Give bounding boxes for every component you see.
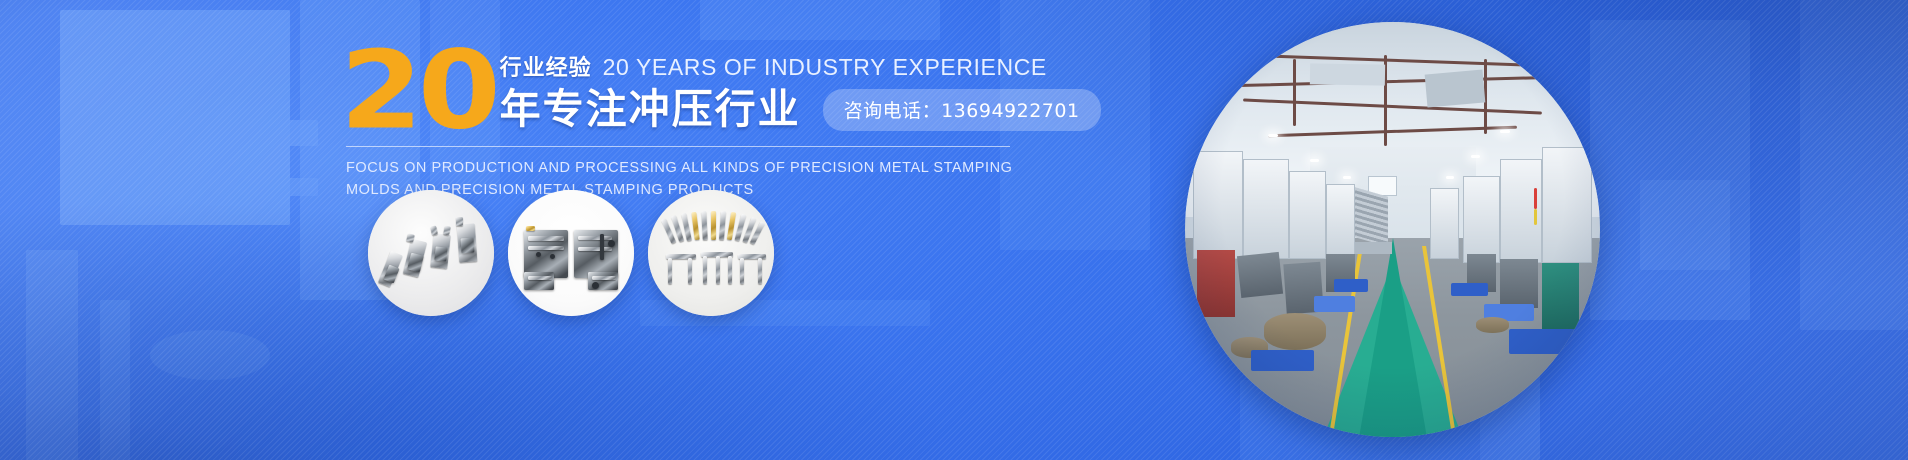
product-circle-group xyxy=(368,190,774,316)
headline-row: 20 行业经验 20 YEARS OF INDUSTRY EXPERIENCE … xyxy=(340,44,1100,131)
contact-phone-pill[interactable]: 咨询电话：13694922701 xyxy=(823,89,1101,131)
headline-block: 20 行业经验 20 YEARS OF INDUSTRY EXPERIENCE … xyxy=(340,44,1100,201)
product-circle-metal-connector-shells[interactable] xyxy=(368,190,494,316)
eyebrow-english: 20 YEARS OF INDUSTRY EXPERIENCE xyxy=(603,54,1047,81)
main-headline-chinese: 年专注冲压行业 xyxy=(500,88,801,131)
factory-workshop-photo[interactable] xyxy=(1185,22,1600,437)
eyebrow-chinese: 行业经验 xyxy=(500,50,592,82)
main-headline-row: 年专注冲压行业 咨询电话：13694922701 xyxy=(500,88,1101,131)
hero-banner: 20 行业经验 20 YEARS OF INDUSTRY EXPERIENCE … xyxy=(0,0,1908,460)
eyebrow-row: 行业经验 20 YEARS OF INDUSTRY EXPERIENCE xyxy=(500,50,1101,82)
photo-vignette xyxy=(1185,22,1600,437)
product-circle-metal-terminals[interactable] xyxy=(648,190,774,316)
headline-text-column: 行业经验 20 YEARS OF INDUSTRY EXPERIENCE 年专注… xyxy=(500,44,1101,131)
product-circle-stamping-mold[interactable] xyxy=(508,190,634,316)
years-number: 20 xyxy=(340,48,496,134)
